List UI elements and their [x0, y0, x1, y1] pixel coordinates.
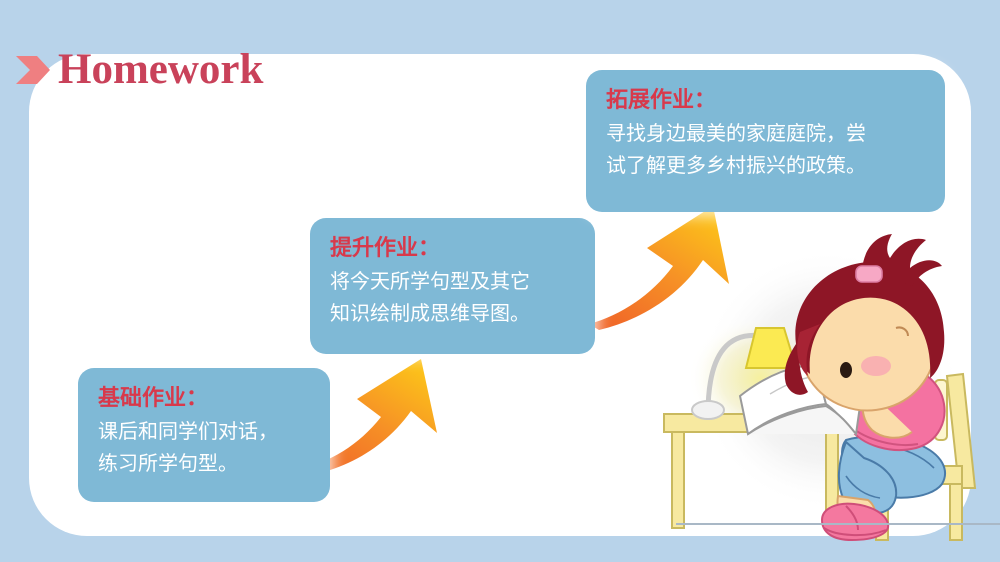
slide-root: Homework [0, 0, 1000, 562]
callout-improve-line-2: 知识绘制成思维导图。 [330, 298, 575, 330]
hair-tie [856, 266, 882, 282]
callout-improve[interactable]: 提升作业： 将今天所学句型及其它 知识绘制成思维导图。 [310, 218, 595, 354]
callout-improve-line-1: 将今天所学句型及其它 [330, 266, 575, 298]
callout-improve-heading: 提升作业： [330, 232, 575, 264]
girl-mouth [840, 362, 852, 378]
callout-basic-line-1: 课后和同学们对话， [98, 416, 310, 448]
chevron-right-icon [14, 50, 50, 90]
page-title: Homework [14, 48, 263, 91]
callout-basic[interactable]: 基础作业： 课后和同学们对话， 练习所学句型。 [78, 368, 330, 502]
callout-extend-line-1: 寻找身边最美的家庭庭院，尝 [606, 118, 925, 150]
callout-basic-line-2: 练习所学句型。 [98, 448, 310, 480]
ground-line [676, 523, 1000, 525]
callout-extend[interactable]: 拓展作业： 寻找身边最美的家庭庭院，尝 试了解更多乡村振兴的政策。 [586, 70, 945, 212]
girl-blush [861, 356, 891, 376]
callout-extend-heading: 拓展作业： [606, 84, 925, 116]
callout-basic-heading: 基础作业： [98, 382, 310, 414]
callout-extend-line-2: 试了解更多乡村振兴的政策。 [606, 150, 925, 182]
page-title-text: Homework [58, 48, 263, 91]
